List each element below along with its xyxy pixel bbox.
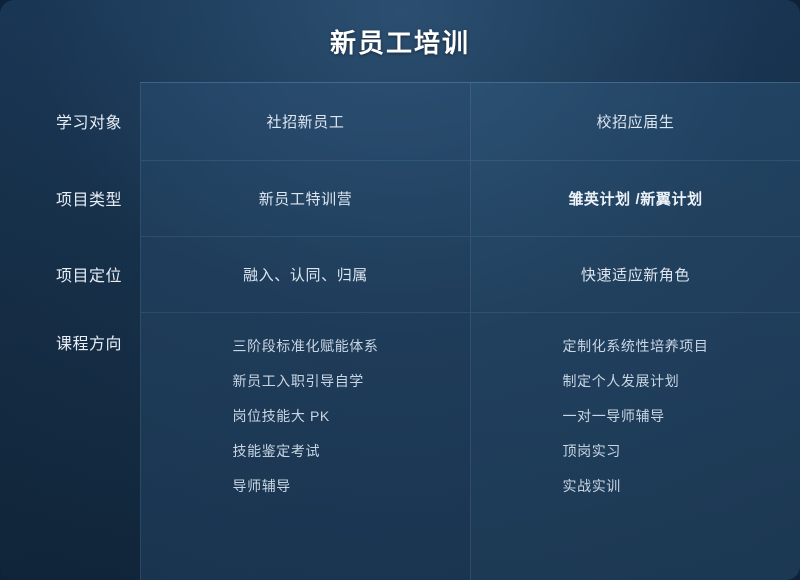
comparison-table: 学习对象 社招新员工 校招应届生 项目类型 新员工特训营 雏英计划 /新翼计划 … (0, 82, 800, 580)
list-item: 顶岗实习 (563, 440, 621, 462)
cell-program-type-campus: 雏英计划 /新翼计划 (470, 160, 800, 236)
page-title: 新员工培训 (330, 23, 470, 60)
training-overview-card: 新员工培训 学习对象 社招新员工 校招应届生 项目类型 新员工特训营 雏英计划 … (0, 0, 800, 580)
row-label-audience: 学习对象 (0, 82, 140, 160)
card-header: 新员工培训 (0, 0, 800, 82)
row-label-program-type: 项目类型 (0, 160, 140, 236)
row-label-positioning: 项目定位 (0, 236, 140, 312)
cell-audience-social: 社招新员工 (140, 82, 470, 160)
list-item: 岗位技能大 PK (233, 405, 330, 427)
list-item: 三阶段标准化赋能体系 (233, 335, 379, 357)
course-list-campus: 定制化系统性培养项目 制定个人发展计划 一对一导师辅导 顶岗实习 实战实训 (563, 335, 709, 497)
row-label-course-direction: 课程方向 (0, 312, 140, 580)
list-item: 实战实训 (563, 475, 621, 497)
cell-courses-social: 三阶段标准化赋能体系 新员工入职引导自学 岗位技能大 PK 技能鉴定考试 导师辅… (140, 312, 470, 580)
list-item: 一对一导师辅导 (563, 405, 665, 427)
course-list-social: 三阶段标准化赋能体系 新员工入职引导自学 岗位技能大 PK 技能鉴定考试 导师辅… (233, 335, 379, 497)
list-item: 导师辅导 (233, 475, 291, 497)
list-item: 新员工入职引导自学 (233, 370, 364, 392)
cell-courses-campus: 定制化系统性培养项目 制定个人发展计划 一对一导师辅导 顶岗实习 实战实训 (470, 312, 800, 580)
list-item: 技能鉴定考试 (233, 440, 321, 462)
cell-audience-campus: 校招应届生 (470, 82, 800, 160)
list-item: 定制化系统性培养项目 (563, 335, 709, 357)
list-item: 制定个人发展计划 (563, 370, 680, 392)
cell-program-type-social: 新员工特训营 (140, 160, 470, 236)
cell-positioning-social: 融入、认同、归属 (140, 236, 470, 312)
cell-positioning-campus: 快速适应新角色 (470, 236, 800, 312)
